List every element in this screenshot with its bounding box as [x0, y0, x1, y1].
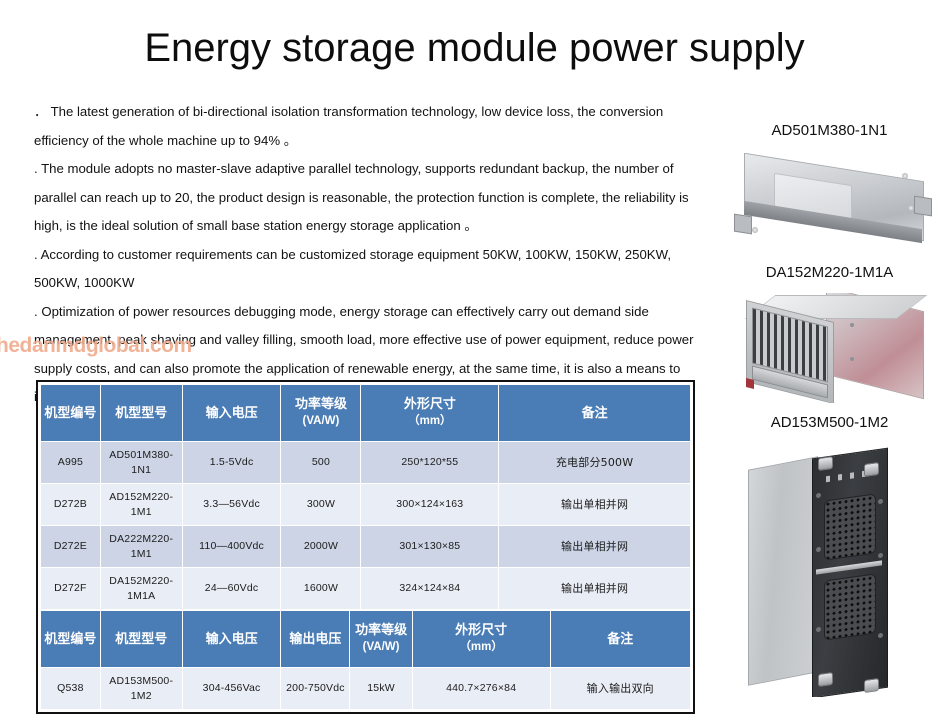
col-header-output-voltage: 输出电压: [281, 611, 350, 668]
table-row: Q538 AD153M500-1M2 304-456Vac 200-750Vdc…: [41, 668, 691, 710]
table-header-row: 机型编号 机型型号 输入电压 功率等级(VA/W) 外形尺寸（mm） 备注: [41, 385, 691, 442]
chassis-side-panel: [748, 456, 818, 686]
spec-table-dc: 机型编号 机型型号 输入电压 功率等级(VA/W) 外形尺寸（mm） 备注 A9…: [40, 384, 691, 610]
cell-model-no: A995: [41, 442, 101, 484]
cell-dimensions: 440.7×276×84: [412, 668, 550, 710]
fan-grille-top-icon: [824, 493, 876, 560]
cell-remarks: 输出单相并网: [499, 568, 691, 610]
thumbscrew-icon: [864, 462, 879, 477]
cell-model-type: DA152M220-1M1A: [100, 568, 182, 610]
cell-power-rating: 300W: [281, 484, 361, 526]
spec-table-ac: 机型编号 机型型号 输入电压 输出电压 功率等级(VA/W) 外形尺寸（mm） …: [40, 610, 691, 710]
cell-power-rating: 1600W: [281, 568, 361, 610]
col-header-power-rating: 功率等级(VA/W): [350, 611, 412, 668]
product-label-ad153m500-1m2: AD153M500-1M2: [722, 414, 937, 431]
screw-icon: [816, 493, 821, 499]
cell-remarks: 输出单相并网: [499, 484, 691, 526]
col-header-model-type: 机型型号: [100, 385, 182, 442]
cell-dimensions: 300×124×163: [361, 484, 499, 526]
cell-remarks: 充电部分500W: [499, 442, 691, 484]
screw-icon: [878, 553, 883, 559]
description-paragraph-1: ． The latest generation of bi-directiona…: [34, 98, 706, 155]
product-block-2: DA152M220-1M1A: [722, 264, 937, 403]
slide-page: Energy storage module power supply ． The…: [0, 0, 949, 708]
col-header-model-no: 机型编号: [41, 611, 101, 668]
cell-remarks: 输入输出双向: [550, 668, 690, 710]
description-paragraph-2: . The module adopts no master-slave adap…: [34, 155, 706, 241]
thumbscrew-icon: [818, 456, 833, 471]
col-header-dimensions: 外形尺寸（mm）: [361, 385, 499, 442]
cell-model-no: Q538: [41, 668, 101, 710]
table-row: A995 AD501M380-1N1 1.5-5Vdc 500 250*120*…: [41, 442, 691, 484]
cell-model-type: AD152M220-1M1: [100, 484, 182, 526]
cell-model-no: D272F: [41, 568, 101, 610]
cell-remarks: 输出单相并网: [499, 526, 691, 568]
cell-power-rating: 15kW: [350, 668, 412, 710]
cell-input-voltage: 24—60Vdc: [182, 568, 281, 610]
table-row: D272F DA152M220-1M1A 24—60Vdc 1600W 324×…: [41, 568, 691, 610]
fan-grille-bottom-icon: [824, 573, 876, 640]
screw-icon: [850, 323, 854, 327]
screw-icon: [850, 357, 854, 361]
specification-tables: 机型编号 机型型号 输入电压 功率等级(VA/W) 外形尺寸（mm） 备注 A9…: [36, 380, 695, 714]
thumbscrew-icon: [864, 678, 879, 693]
col-header-input-voltage: 输入电压: [182, 611, 281, 668]
cell-input-voltage: 304-456Vac: [182, 668, 281, 710]
table-row: D272E DA222M220-1M1 110—400Vdc 2000W 301…: [41, 526, 691, 568]
cell-dimensions: 324×124×84: [361, 568, 499, 610]
col-header-power-rating: 功率等级(VA/W): [281, 385, 361, 442]
cell-dimensions: 301×130×85: [361, 526, 499, 568]
col-header-model-type: 机型型号: [100, 611, 182, 668]
col-header-model-no: 机型编号: [41, 385, 101, 442]
table-row: D272B AD152M220-1M1 3.3—56Vdc 300W 300×1…: [41, 484, 691, 526]
latch-tab-icon: [746, 378, 754, 389]
screw-icon: [908, 205, 914, 211]
cell-model-type: AD501M380-1N1: [100, 442, 182, 484]
cell-power-rating: 500: [281, 442, 361, 484]
mounting-ear-right-icon: [914, 196, 932, 217]
col-header-remarks: 备注: [550, 611, 690, 668]
cell-dimensions: 250*120*55: [361, 442, 499, 484]
cell-model-type: AD153M500-1M2: [100, 668, 182, 710]
description-paragraph-3: . According to customer requirements can…: [34, 241, 706, 298]
cell-output-voltage: 200-750Vdc: [281, 668, 350, 710]
thumbscrew-icon: [818, 672, 833, 687]
table-header-row: 机型编号 机型型号 输入电压 输出电压 功率等级(VA/W) 外形尺寸（mm） …: [41, 611, 691, 668]
description-block: ． The latest generation of bi-directiona…: [34, 98, 706, 412]
cell-power-rating: 2000W: [281, 526, 361, 568]
col-header-input-voltage: 输入电压: [182, 385, 281, 442]
cell-input-voltage: 110—400Vdc: [182, 526, 281, 568]
page-title: Energy storage module power supply: [0, 26, 949, 71]
product-photo-da152m220-1m1a: [730, 293, 930, 403]
cell-model-no: D272B: [41, 484, 101, 526]
cell-model-type: DA222M220-1M1: [100, 526, 182, 568]
col-header-dimensions: 外形尺寸（mm）: [412, 611, 550, 668]
product-label-ad501m380-1n1: AD501M380-1N1: [722, 122, 937, 139]
product-label-da152m220-1m1a: DA152M220-1M1A: [722, 264, 937, 281]
screw-icon: [878, 499, 883, 505]
cell-input-voltage: 3.3—56Vdc: [182, 484, 281, 526]
product-photo-ad501m380-1n1: [726, 153, 934, 259]
screw-icon: [878, 633, 883, 639]
col-header-remarks: 备注: [499, 385, 691, 442]
screw-icon: [752, 227, 758, 233]
screw-icon: [816, 547, 821, 553]
cell-model-no: D272E: [41, 526, 101, 568]
cell-input-voltage: 1.5-5Vdc: [182, 442, 281, 484]
product-photo-ad153m500-1m2: [746, 447, 914, 697]
screw-icon: [902, 173, 908, 179]
mounting-ear-left-icon: [734, 214, 752, 235]
screw-icon: [816, 627, 821, 633]
product-block-1: AD501M380-1N1: [722, 122, 937, 259]
product-block-3: AD153M500-1M2: [722, 414, 937, 697]
